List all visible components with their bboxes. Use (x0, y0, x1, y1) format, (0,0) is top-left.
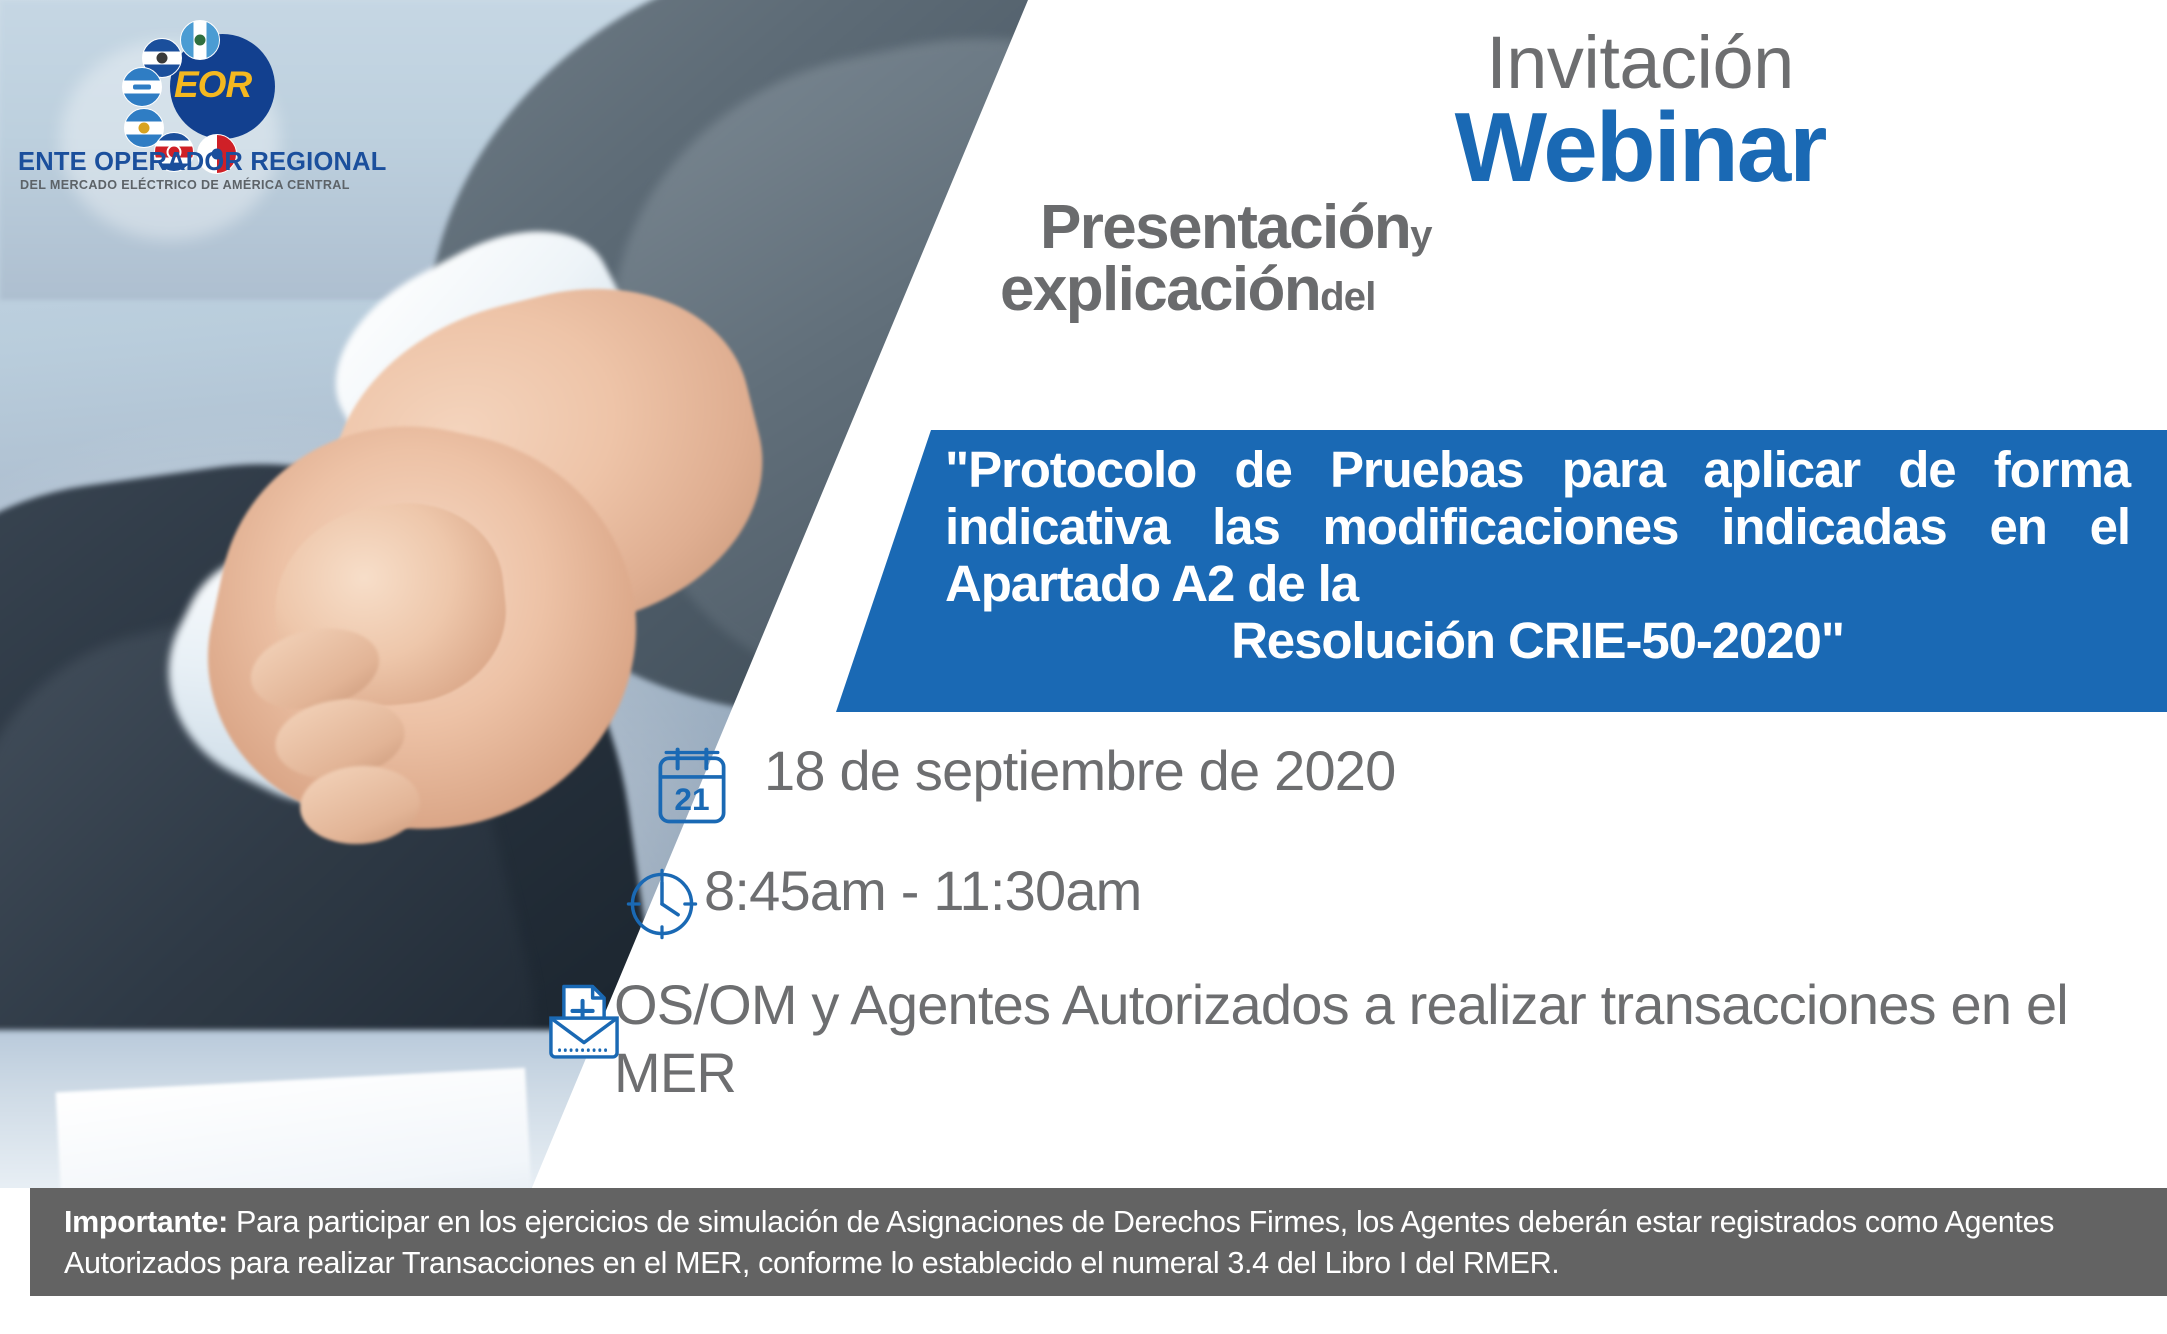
flag-emblem (133, 85, 151, 90)
logo-org-name: ENTE OPERADOR REGIONAL (18, 148, 398, 177)
clock-icon (608, 855, 716, 947)
flag-emblem (157, 53, 168, 64)
headline-body: "Protocolo de Pruebas para aplicar de fo… (945, 441, 2130, 612)
event-details: 21 18 de septiembre de 2020 8:45am - 11:… (660, 735, 2160, 1130)
eor-logo: EOR ENTE O (18, 20, 398, 195)
detail-row-date: 21 18 de septiembre de 2020 (660, 735, 2160, 833)
important-label: Importante: (64, 1205, 228, 1239)
detail-audience-text: OS/OM y Agentes Autorizados a realizar t… (614, 969, 2160, 1108)
subtitle-line-2: explicacióndel (1000, 258, 2140, 321)
important-note-paragraph: Importante: Para participar en los ejerc… (30, 1188, 2167, 1284)
detail-row-time: 8:45am - 11:30am (660, 855, 2160, 947)
flag-emblem (139, 123, 150, 134)
headline-text: "Protocolo de Pruebas para aplicar de fo… (945, 442, 2130, 669)
subtitle-strong-2: explicación (1000, 255, 1320, 324)
logo-eor-text: EOR (174, 64, 294, 106)
detail-row-audience: OS/OM y Agentes Autorizados a realizar t… (660, 969, 2160, 1108)
webinar-title: Webinar (1180, 98, 2100, 196)
flag-guatemala-icon (180, 20, 220, 60)
subtitle-strong-1: Presentación (1040, 193, 1410, 262)
logo-org-subtitle: DEL MERCADO ELÉCTRICO DE AMÉRICA CENTRAL (20, 178, 400, 192)
subtitle-light-1: y (1410, 213, 1431, 257)
invitation-kicker: Invitación (1180, 26, 2100, 100)
headline-last-line: Resolución CRIE-50-2020" (945, 613, 2130, 670)
important-note-bar: Importante: Para participar en los ejerc… (30, 1188, 2167, 1296)
detail-date-text: 18 de septiembre de 2020 (764, 735, 1396, 805)
footer-left-gap (0, 1188, 30, 1296)
bottom-white-strip (0, 1296, 2167, 1334)
flag-honduras-icon (122, 67, 162, 107)
detail-time-text: 8:45am - 11:30am (704, 855, 1142, 925)
subtitle-light-2: del (1320, 275, 1375, 319)
logo-mark: EOR (98, 22, 288, 147)
calendar-day-number: 21 (674, 781, 709, 817)
subtitle-line-1: Presentacióny (1040, 196, 2140, 259)
flag-emblem (195, 35, 206, 46)
calendar-icon: 21 (638, 735, 746, 833)
webinar-invitation-poster: EOR ENTE O (0, 0, 2167, 1334)
important-text: Para participar en los ejercicios de sim… (64, 1205, 2054, 1280)
